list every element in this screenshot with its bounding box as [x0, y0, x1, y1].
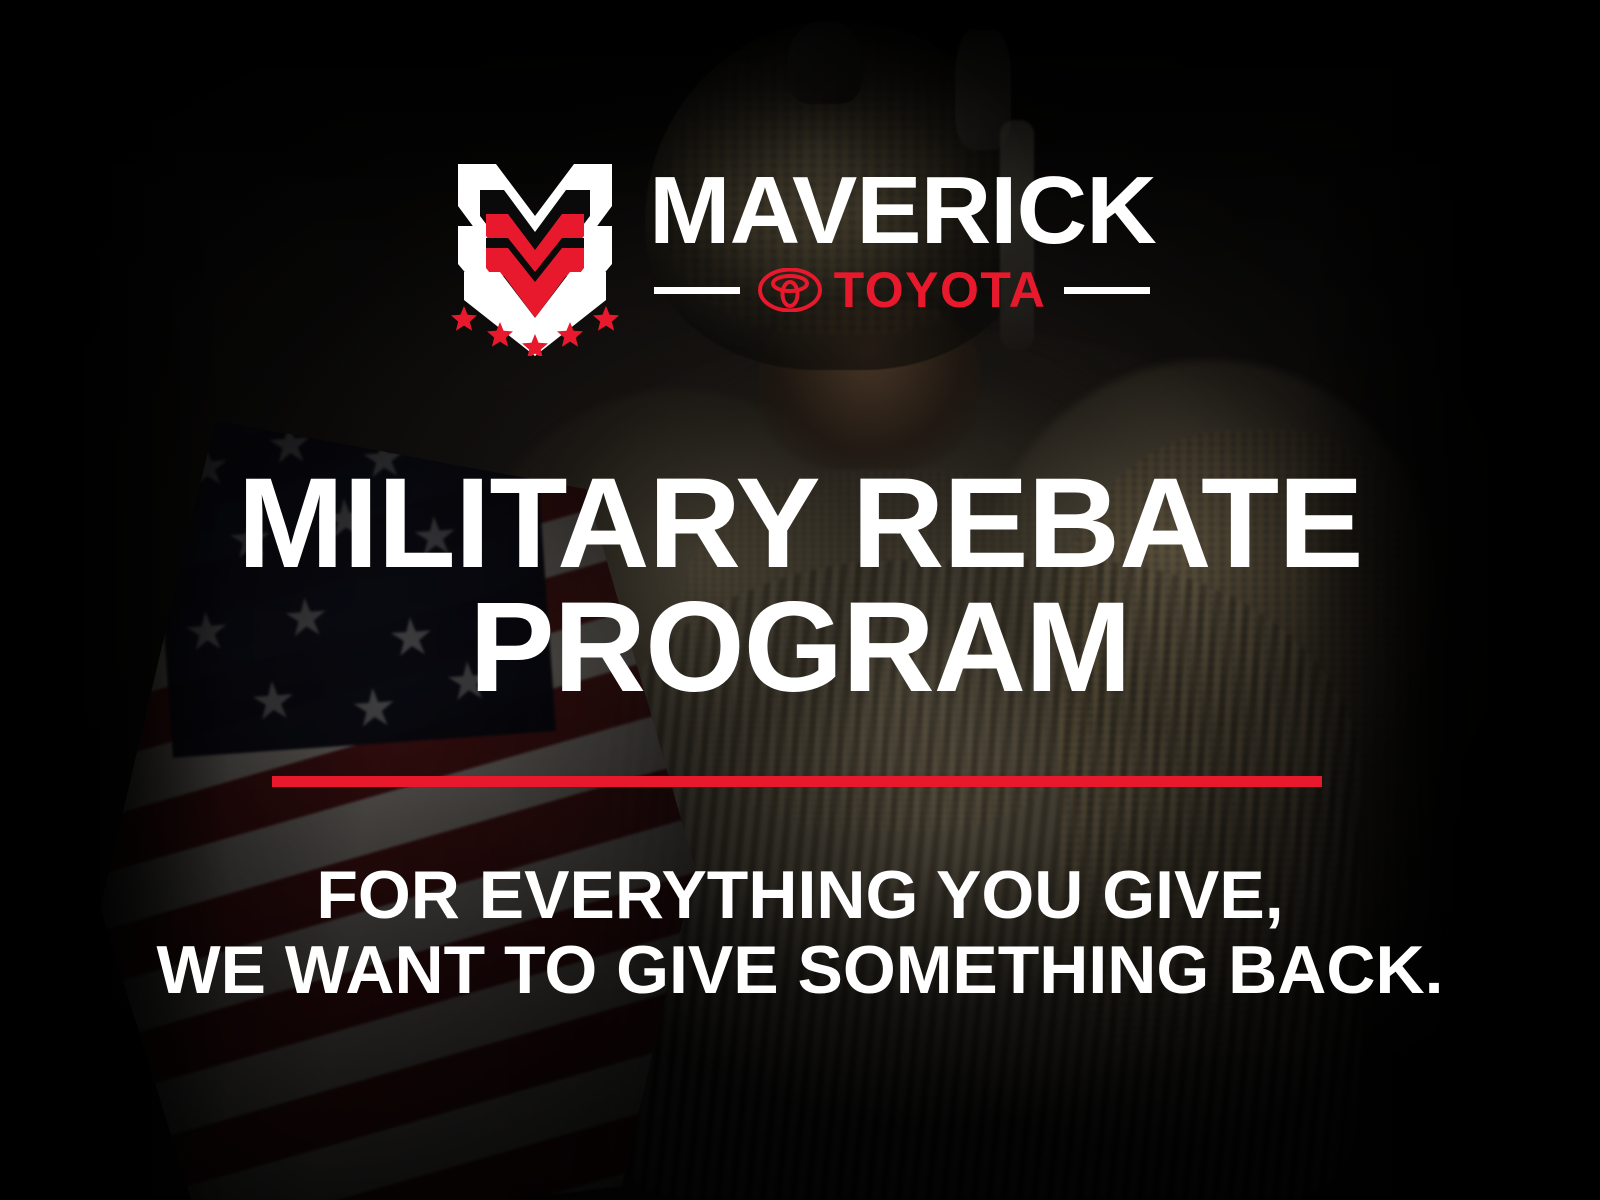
toyota-mark: TOYOTA: [758, 265, 1047, 315]
poster-content: MAVERICK TOYOTA: [0, 0, 1600, 1200]
page-subtitle: FOR EVERYTHING YOU GIVE, WE WANT TO GIVE…: [0, 858, 1600, 1008]
brand-name-maverick: MAVERICK: [649, 166, 1156, 256]
subhead-line-1: FOR EVERYTHING YOU GIVE,: [0, 858, 1600, 933]
brand-wordmark-column: MAVERICK TOYOTA: [654, 160, 1151, 312]
toyota-oval-icon: [758, 268, 822, 312]
subhead-line-2: WE WANT TO GIVE SOMETHING BACK.: [0, 933, 1600, 1008]
maverick-chevron-emblem-icon: [450, 160, 620, 356]
toyota-lockup-row: TOYOTA: [654, 268, 1151, 312]
page-title: MILITARY REBATE PROGRAM: [0, 462, 1600, 710]
headline-line-2: PROGRAM: [0, 586, 1600, 710]
rule-left: [654, 287, 740, 294]
poster-canvas: ★★★★★★★★★★★★: [0, 0, 1600, 1200]
maverick-toyota-logo[interactable]: MAVERICK TOYOTA: [0, 160, 1600, 356]
headline-line-1: MILITARY REBATE: [0, 462, 1600, 586]
red-divider-bar: [272, 776, 1322, 787]
rule-right: [1064, 287, 1150, 294]
toyota-wordmark: TOYOTA: [834, 265, 1047, 315]
